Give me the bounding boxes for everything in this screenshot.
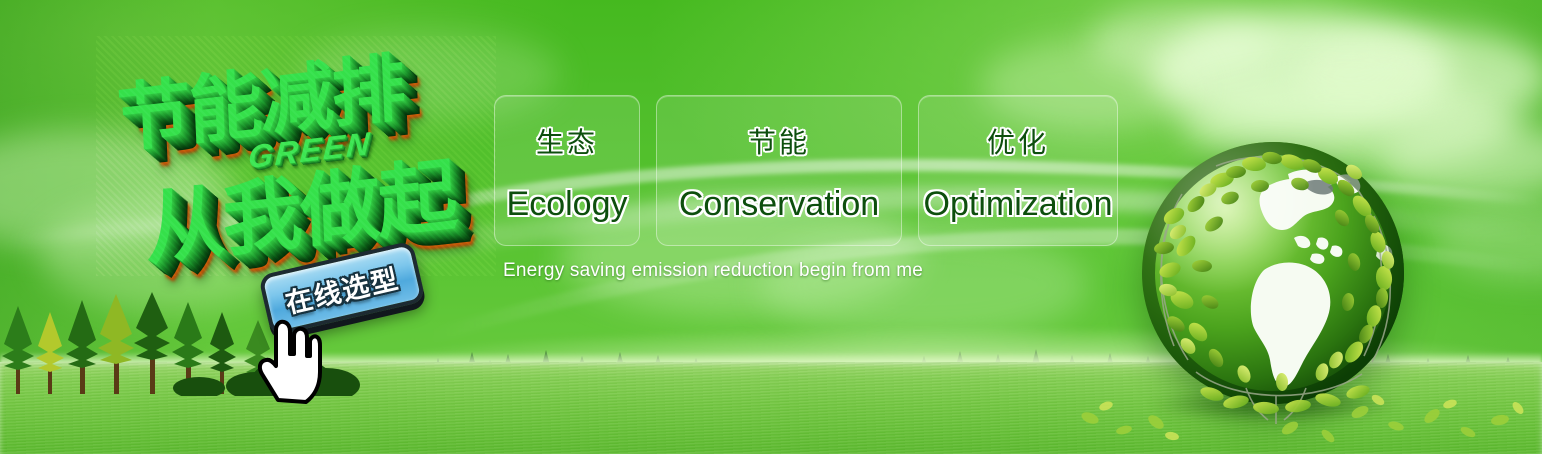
subtitle-text: Energy saving emission reduction begin f… xyxy=(503,260,923,282)
headline-3d: 节能减排 GREEN 从我做起 xyxy=(96,36,496,276)
feature-en-label: Optimization xyxy=(924,185,1113,224)
feature-cn-label: 优化 xyxy=(987,121,1049,161)
feature-box-ecology[interactable]: 生态 Ecology xyxy=(494,95,640,246)
feature-cn-label: 节能 xyxy=(748,121,810,161)
eco-globe xyxy=(1126,120,1426,430)
feature-cn-label: 生态 xyxy=(536,121,598,161)
feature-box-group: 生态 Ecology 节能 Conservation 优化 Optimizati… xyxy=(494,95,1118,246)
globe-sphere xyxy=(1142,142,1404,404)
hand-cursor-icon xyxy=(248,316,324,404)
feature-box-optimization[interactable]: 优化 Optimization xyxy=(918,95,1118,246)
eco-hero-banner: 节能减排 GREEN 从我做起 在线选型 生态 Ecology 节能 Conse… xyxy=(0,0,1542,454)
feature-en-label: Conservation xyxy=(679,185,879,224)
feature-box-conservation[interactable]: 节能 Conservation xyxy=(656,95,902,246)
feature-en-label: Ecology xyxy=(507,185,628,224)
